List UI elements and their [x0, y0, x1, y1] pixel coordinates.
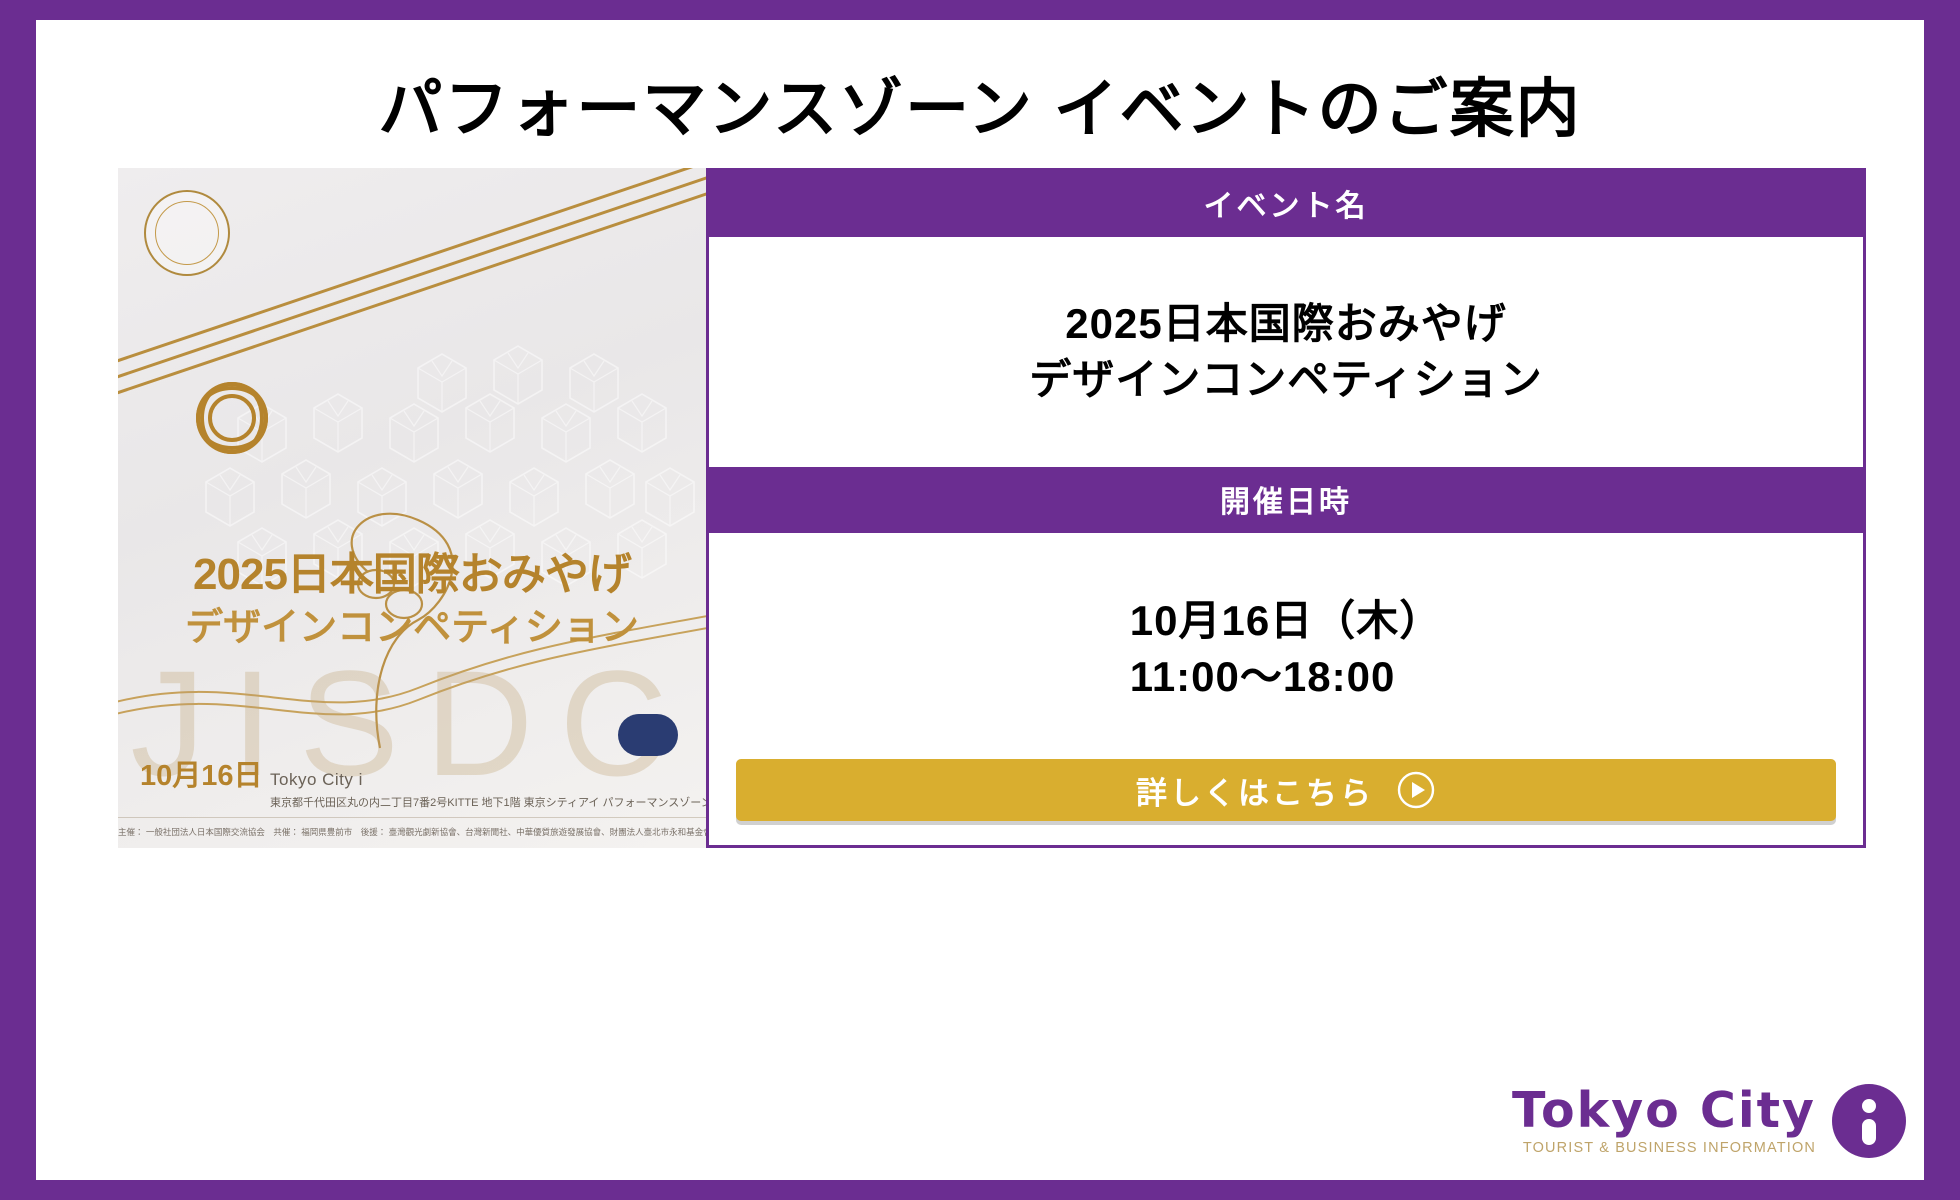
content-row: JISDC 2025日本国際おみやげ デザインコンペティション 10月16日 T…	[118, 168, 1866, 848]
mizuhiki-knot-icon	[166, 358, 298, 478]
datetime-body: 10月16日（木） 11:00〜18:00	[709, 533, 1863, 759]
poster-title-sub: デザインコンペティション	[118, 596, 706, 651]
datetime-line-1: 10月16日（木）	[1130, 593, 1442, 648]
details-button-label: 詳しくはこちら	[1136, 768, 1374, 813]
datetime-header: 開催日時	[709, 467, 1863, 533]
tokyo-city-logo: Tokyo City TOURIST & BUSINESS INFORMATIO…	[1512, 1084, 1906, 1158]
event-datetime-text: 10月16日（木） 11:00〜18:00	[1130, 593, 1442, 704]
event-name-line-2: デザインコンペティション	[1029, 352, 1542, 408]
poster-seal-icon	[144, 190, 230, 276]
poster-venue: Tokyo City i	[270, 770, 363, 790]
information-circle-icon	[1832, 1084, 1906, 1158]
jisdc-logo-badge-icon	[618, 714, 678, 756]
logo-tagline-text: TOURIST & BUSINESS INFORMATION	[1512, 1141, 1816, 1156]
logo-text-block: Tokyo City TOURIST & BUSINESS INFORMATIO…	[1512, 1086, 1816, 1156]
info-icon-dot	[1862, 1099, 1876, 1113]
event-info-panel: イベント名 2025日本国際おみやげ デザインコンペティション 開催日時 10月…	[706, 168, 1866, 848]
poster-title-main: 2025日本国際おみやげ	[118, 538, 706, 602]
poster-date: 10月16日	[140, 752, 263, 794]
datetime-line-2: 11:00〜18:00	[1130, 649, 1442, 704]
event-name-header: イベント名	[709, 171, 1863, 237]
poster-outer-frame: パフォーマンスゾーン イベントのご案内	[0, 0, 1960, 1200]
event-poster-image[interactable]: JISDC 2025日本国際おみやげ デザインコンペティション 10月16日 T…	[118, 168, 706, 848]
event-name-body: 2025日本国際おみやげ デザインコンペティション	[709, 237, 1863, 467]
cta-wrapper: 詳しくはこちら	[709, 759, 1863, 845]
logo-main-text: Tokyo City	[1512, 1086, 1816, 1135]
play-arrow-circle-icon	[1396, 770, 1436, 810]
event-name-line-1: 2025日本国際おみやげ	[1029, 296, 1542, 352]
poster-address: 東京都千代田区丸の内二丁目7番2号KITTE 地下1階 東京シティアイ パフォー…	[270, 794, 706, 810]
page-title: パフォーマンスゾーン イベントのご案内	[36, 58, 1924, 150]
info-icon-stem	[1862, 1119, 1876, 1145]
event-name-text: 2025日本国際おみやげ デザインコンペティション	[1029, 296, 1542, 409]
details-button[interactable]: 詳しくはこちら	[736, 759, 1836, 821]
poster-credits: 主催： 一般社団法人日本国際交流協会 共催： 福岡県豊前市 後援： 臺灣觀光劇新…	[118, 817, 706, 838]
poster-canvas: パフォーマンスゾーン イベントのご案内	[36, 20, 1924, 1180]
